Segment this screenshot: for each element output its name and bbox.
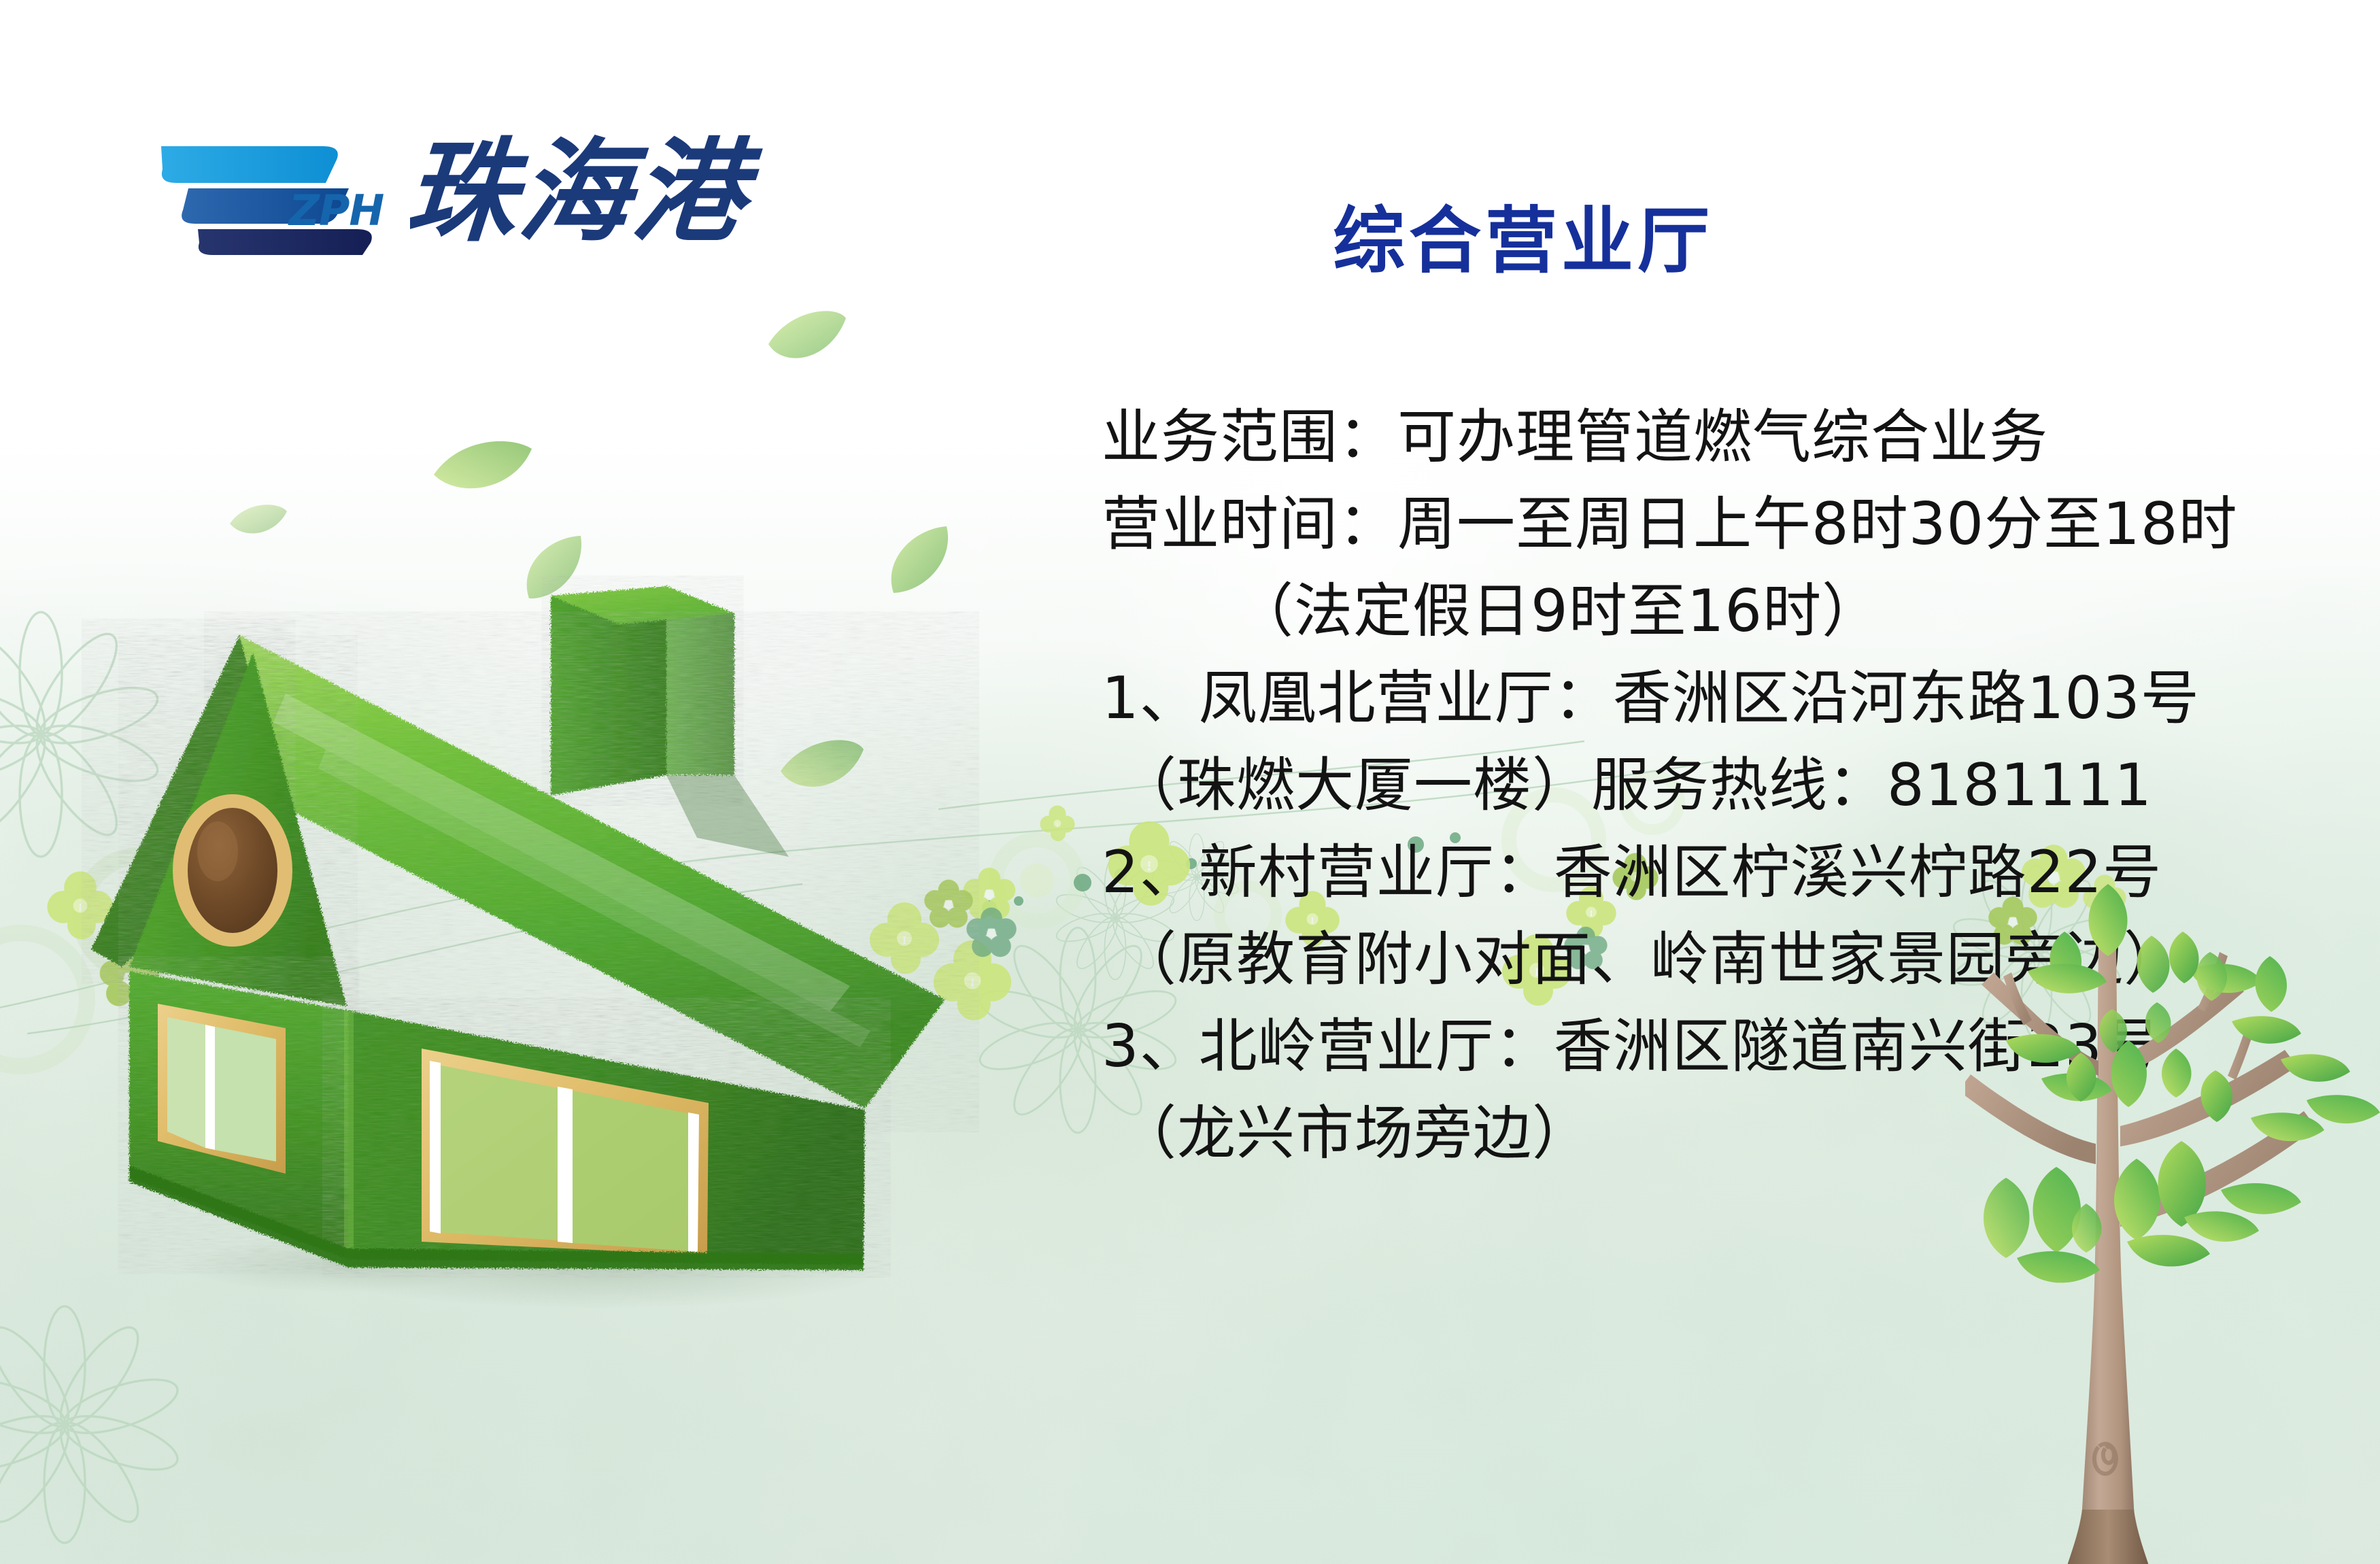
floating-leaf-icon — [762, 299, 850, 375]
poster-canvas: ZPH 珠海港 综合营业厅 业务范围：可办理管道燃气综合业务 营业时间：周一至周… — [0, 0, 2380, 1564]
info-line-4: 1、凤凰北营业厅：香洲区沿河东路103号 — [1102, 669, 2366, 728]
brand-logo: ZPH 珠海港 — [153, 119, 833, 275]
info-line-1: 业务范围：可办理管道燃气综合业务 — [1102, 408, 2366, 466]
floating-leaf-icon — [227, 496, 290, 544]
grass-house-illustration — [82, 571, 979, 1319]
info-line-2: 营业时间：周一至周日上午8时30分至18时 — [1102, 495, 2366, 554]
leafy-tree-illustration — [1965, 836, 2380, 1564]
logo-chinese-calligraphy: 珠海港 — [410, 114, 791, 270]
oval-gable-window-icon — [173, 794, 292, 947]
svg-text:珠海港: 珠海港 — [410, 126, 764, 257]
info-line-3: （法定假日9时至16时） — [1102, 582, 2366, 641]
floating-leaf-icon — [428, 428, 537, 510]
page-title: 综合营业厅 — [1333, 182, 1714, 287]
info-line-5: （珠燃大厦一楼）服务热线：8181111 — [1102, 756, 2366, 815]
logo-abbrev-text: ZPH — [289, 186, 384, 235]
